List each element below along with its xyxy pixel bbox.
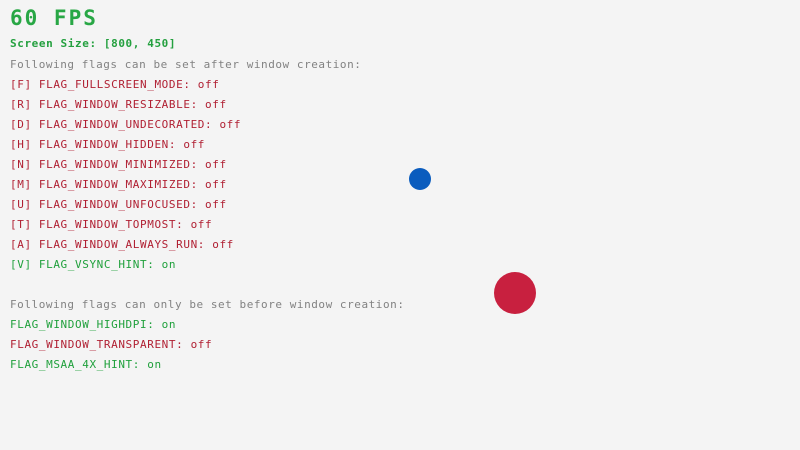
blue-circle: [409, 168, 431, 190]
flag-row-window-hidden[interactable]: [H] FLAG_WINDOW_HIDDEN: off: [10, 139, 205, 150]
flag-row-window-highdpi: FLAG_WINDOW_HIGHDPI: on: [10, 319, 176, 330]
flag-row-vsync-hint[interactable]: [V] FLAG_VSYNC_HINT: on: [10, 259, 176, 270]
flag-row-window-minimized[interactable]: [N] FLAG_WINDOW_MINIMIZED: off: [10, 159, 227, 170]
flag-row-fullscreen-mode[interactable]: [F] FLAG_FULLSCREEN_MODE: off: [10, 79, 219, 90]
red-circle: [494, 272, 536, 314]
flag-row-window-maximized[interactable]: [M] FLAG_WINDOW_MAXIMIZED: off: [10, 179, 227, 190]
flag-row-window-transparent: FLAG_WINDOW_TRANSPARENT: off: [10, 339, 212, 350]
app-canvas[interactable]: 60 FPS Screen Size: [800, 450] Following…: [0, 0, 800, 450]
flag-row-window-topmost[interactable]: [T] FLAG_WINDOW_TOPMOST: off: [10, 219, 212, 230]
screen-size-label: Screen Size: [800, 450]: [10, 38, 176, 49]
flag-row-msaa-4x-hint: FLAG_MSAA_4X_HINT: on: [10, 359, 162, 370]
before-creation-section-header: Following flags can only be set before w…: [10, 299, 405, 310]
flag-row-window-unfocused[interactable]: [U] FLAG_WINDOW_UNFOCUSED: off: [10, 199, 227, 210]
after-creation-section-header: Following flags can be set after window …: [10, 59, 361, 70]
flag-row-window-always-run[interactable]: [A] FLAG_WINDOW_ALWAYS_RUN: off: [10, 239, 234, 250]
fps-counter: 60 FPS: [10, 8, 98, 29]
flag-row-window-undecorated[interactable]: [D] FLAG_WINDOW_UNDECORATED: off: [10, 119, 241, 130]
flag-row-window-resizable[interactable]: [R] FLAG_WINDOW_RESIZABLE: off: [10, 99, 227, 110]
